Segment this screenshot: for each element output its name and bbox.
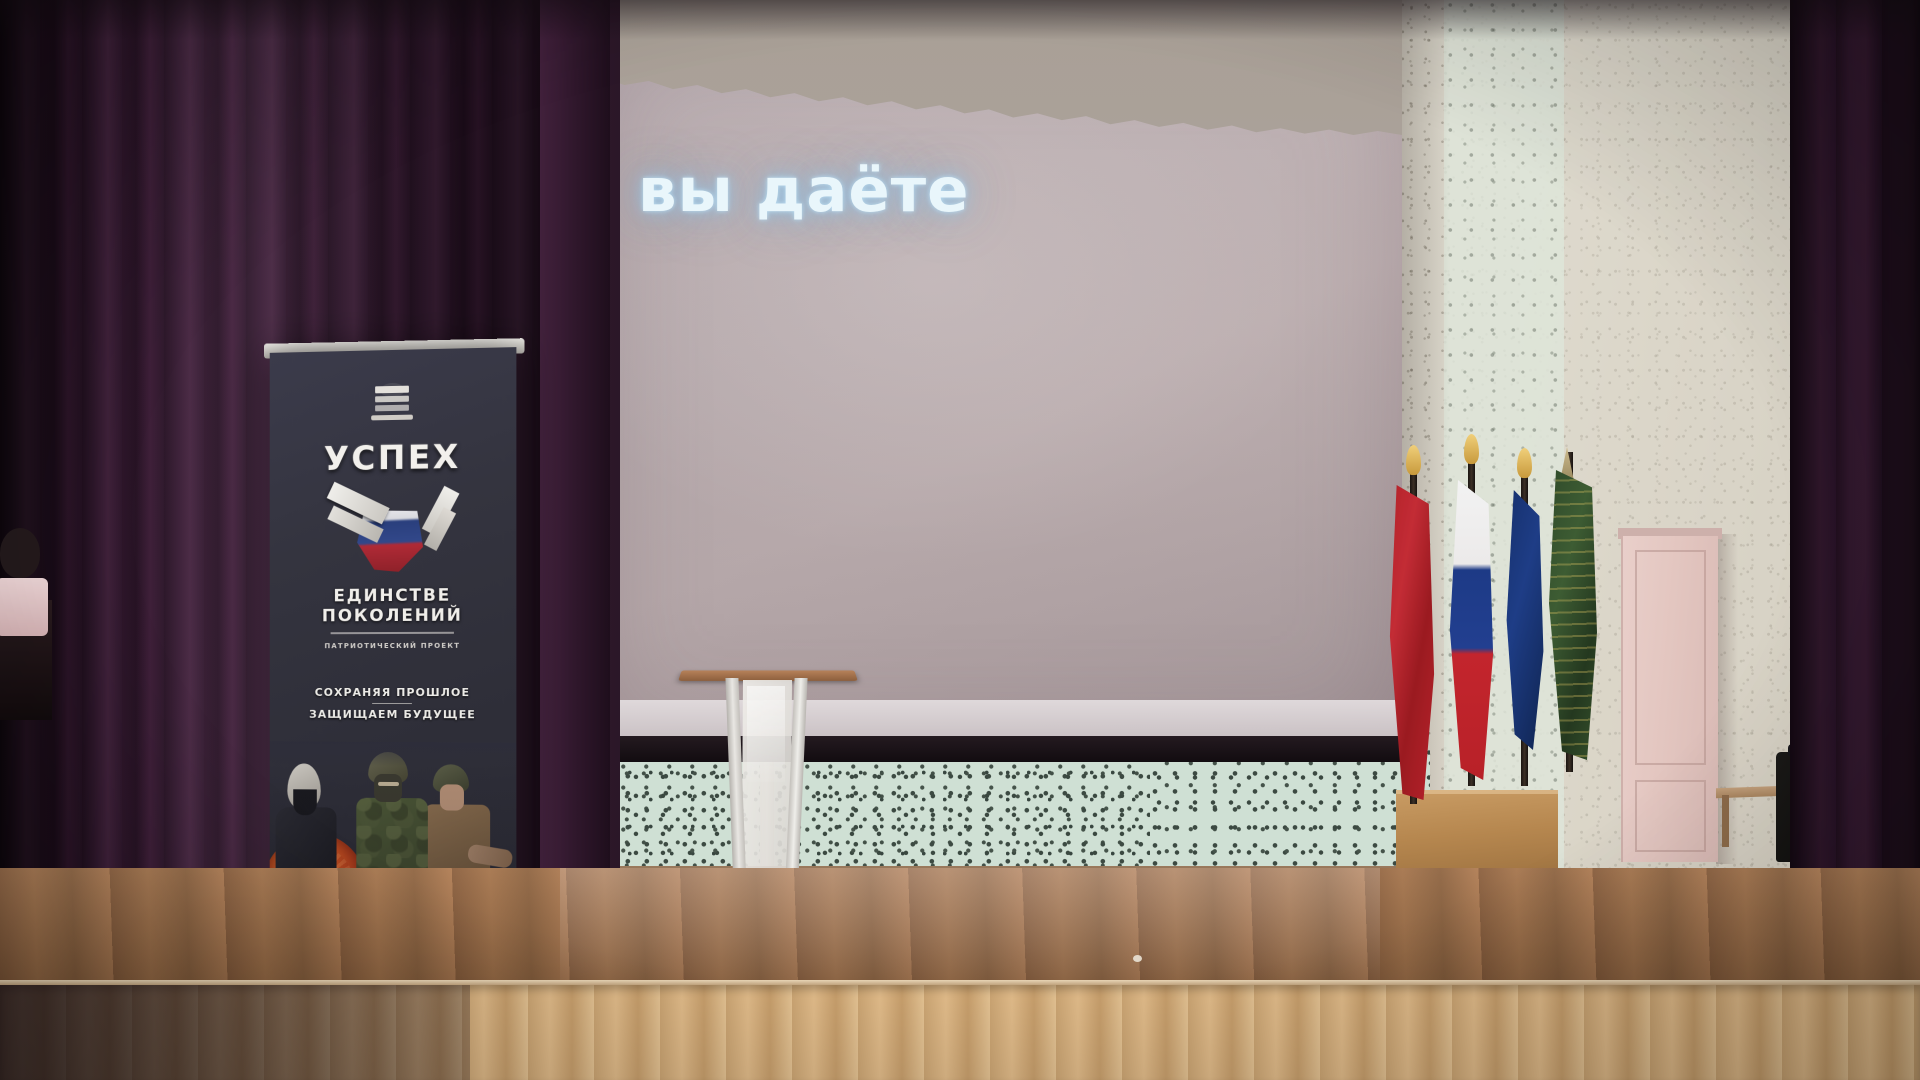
emblem-base: [371, 415, 413, 421]
banner-tagline: ПАТРИОТИЧЕСКИЙ ПРОЕКТ: [270, 642, 517, 651]
slide-text: вы даёте: [638, 155, 970, 226]
projection-screen-surface: [592, 28, 1402, 746]
banner-slogan-line1: СОХРАНЯЯ ПРОШЛОЕ: [270, 686, 517, 699]
bench-leg: [1722, 795, 1729, 847]
door-panel-bottom: [1635, 780, 1706, 852]
chevron-flag-fill: [354, 510, 426, 573]
ceiling-shadow: [0, 0, 1920, 40]
banner-subtitle-line2: ПОКОЛЕНИЙ: [270, 605, 517, 626]
podium-highlight: [747, 686, 785, 782]
side-door[interactable]: [1621, 536, 1718, 862]
stage-front-edge-shadow: [0, 985, 470, 1080]
floor-debris: [1133, 955, 1142, 962]
screen-bottom-edge: [586, 736, 1408, 762]
projection-screen: [592, 0, 1402, 760]
seated-attendee-collar: [0, 578, 48, 636]
emblem-bar: [375, 386, 409, 394]
emblem-bar: [375, 396, 409, 403]
banner-title: УСПЕХ: [270, 436, 517, 479]
chevron-graphic-icon: [329, 475, 456, 580]
screen-bottom-strip: [584, 700, 1410, 740]
party-emblem-icon: [371, 380, 413, 427]
banner-divider: [372, 703, 412, 704]
door-panel-top: [1635, 550, 1706, 765]
banner-subtitle-line1: ЕДИНСТВЕ: [270, 585, 517, 607]
banner-divider: [331, 632, 454, 634]
banner-slogan-line2: ЗАЩИЩАЕМ БУДУЩЕЕ: [270, 708, 517, 722]
auditorium-scene: вы даёте УСПЕХ: [0, 0, 1920, 1080]
seated-attendee: [0, 528, 40, 578]
emblem-bar: [375, 405, 409, 412]
acoustic-wainscot-right: [1150, 750, 1430, 875]
stage-floor-reflection: [560, 868, 1380, 988]
